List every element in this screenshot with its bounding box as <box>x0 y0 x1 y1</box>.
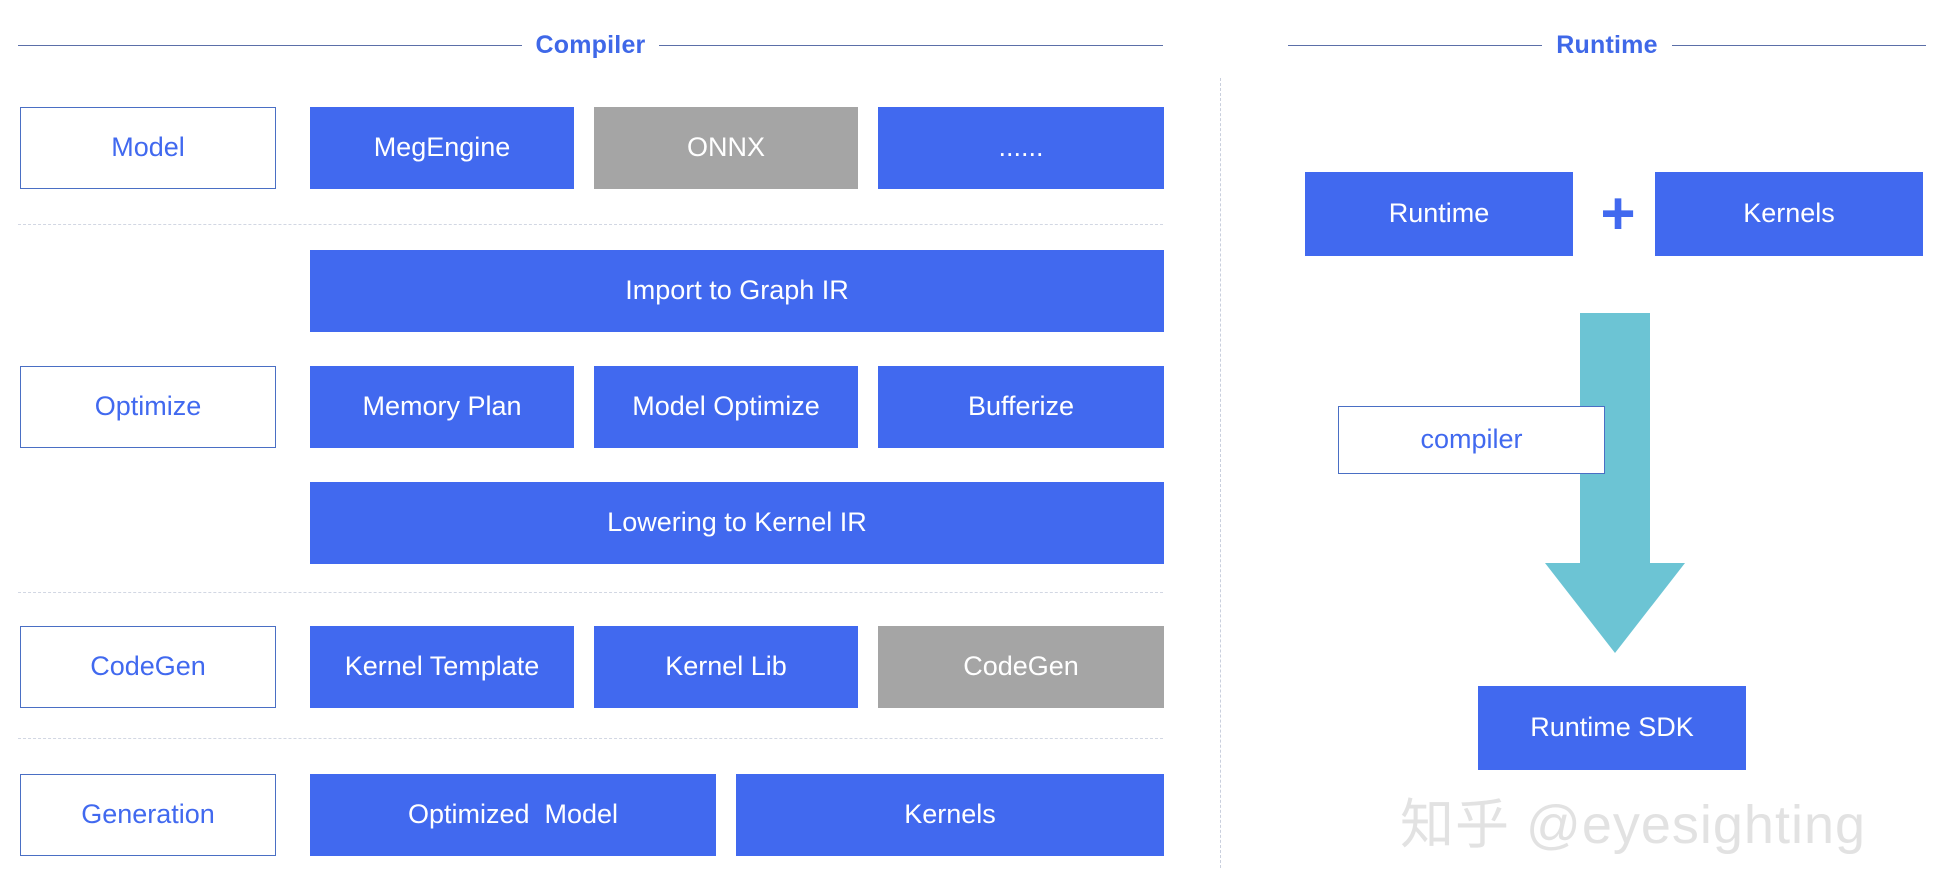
node-codegen[interactable]: CodeGen <box>878 626 1164 708</box>
header-rule-left <box>18 45 522 46</box>
watermark-text: 知乎 @eyesighting <box>1400 780 1866 859</box>
node-bufferize[interactable]: Bufferize <box>878 366 1164 448</box>
stage-label-model[interactable]: Model <box>20 107 276 189</box>
runtime-title: Runtime <box>1542 31 1671 60</box>
plus-icon: + <box>1578 188 1658 240</box>
node-model-ellipsis[interactable]: ...... <box>878 107 1164 189</box>
node-memory-plan[interactable]: Memory Plan <box>310 366 574 448</box>
node-kernel-lib[interactable]: Kernel Lib <box>594 626 858 708</box>
runtime-section-header: Runtime <box>1288 30 1926 60</box>
header-rule-right <box>1672 45 1926 46</box>
node-megengine[interactable]: MegEngine <box>310 107 574 189</box>
stage-label-optimize[interactable]: Optimize <box>20 366 276 448</box>
down-arrow-icon <box>1545 313 1685 653</box>
node-kernel-template[interactable]: Kernel Template <box>310 626 574 708</box>
compiler-title: Compiler <box>522 31 660 60</box>
row-separator-2 <box>18 592 1163 593</box>
banner-import-to-graph-ir[interactable]: Import to Graph IR <box>310 250 1164 332</box>
stage-label-codegen[interactable]: CodeGen <box>20 626 276 708</box>
node-kernels[interactable]: Kernels <box>1655 172 1923 256</box>
banner-lowering-to-kernel-ir[interactable]: Lowering to Kernel IR <box>310 482 1164 564</box>
panel-divider <box>1220 78 1221 868</box>
header-rule-left <box>1288 45 1542 46</box>
header-rule-right <box>659 45 1163 46</box>
node-generated-kernels[interactable]: Kernels <box>736 774 1164 856</box>
row-separator-1 <box>18 224 1163 225</box>
compiler-section-header: Compiler <box>18 30 1163 60</box>
node-onnx[interactable]: ONNX <box>594 107 858 189</box>
stage-label-generation[interactable]: Generation <box>20 774 276 856</box>
node-compiler[interactable]: compiler <box>1338 406 1605 474</box>
row-separator-3 <box>18 738 1163 739</box>
node-runtime-sdk[interactable]: Runtime SDK <box>1478 686 1746 770</box>
node-model-optimize[interactable]: Model Optimize <box>594 366 858 448</box>
diagram-canvas: Compiler Runtime Model MegEngine ONNX ..… <box>0 0 1943 893</box>
node-runtime[interactable]: Runtime <box>1305 172 1573 256</box>
node-optimized-model[interactable]: Optimized Model <box>310 774 716 856</box>
